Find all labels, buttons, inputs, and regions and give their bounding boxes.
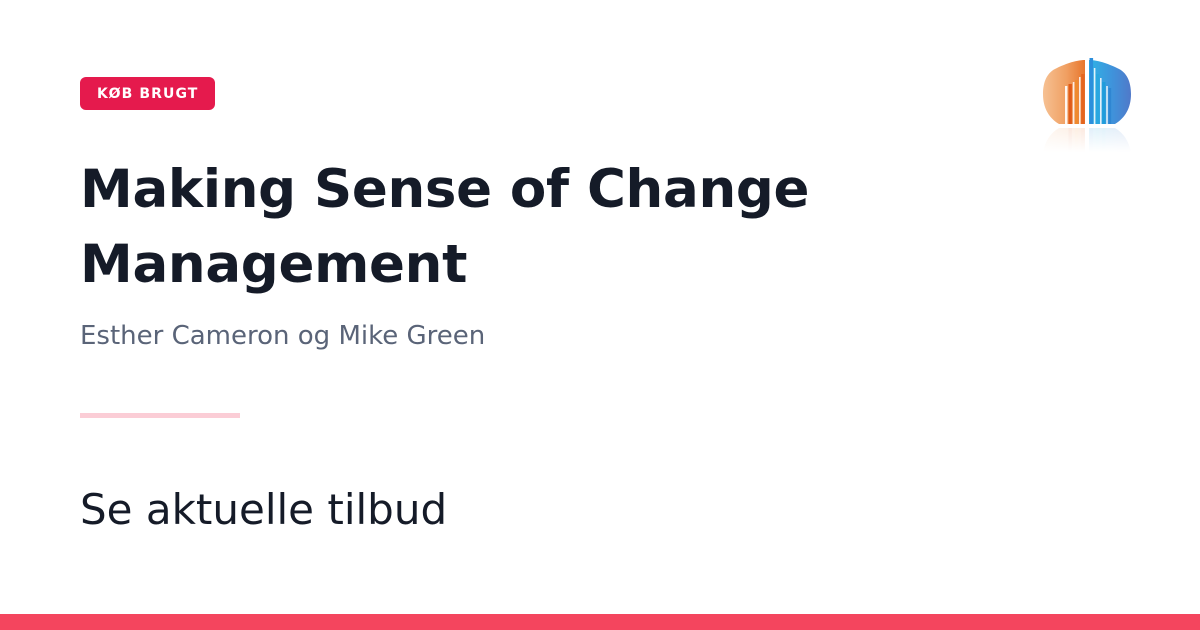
book-authors: Esther Cameron og Mike Green xyxy=(80,320,980,354)
page-title: Making Sense of Change Management xyxy=(80,152,980,303)
open-book-logo xyxy=(1035,52,1139,152)
bottom-accent-bar xyxy=(0,614,1200,630)
status-badge-label: KØB BRUGT xyxy=(97,87,198,101)
status-badge: KØB BRUGT xyxy=(80,77,215,110)
share-card: KØB BRUGT xyxy=(0,0,1200,630)
divider xyxy=(80,413,240,418)
cta-link[interactable]: Se aktuelle tilbud xyxy=(80,484,980,537)
